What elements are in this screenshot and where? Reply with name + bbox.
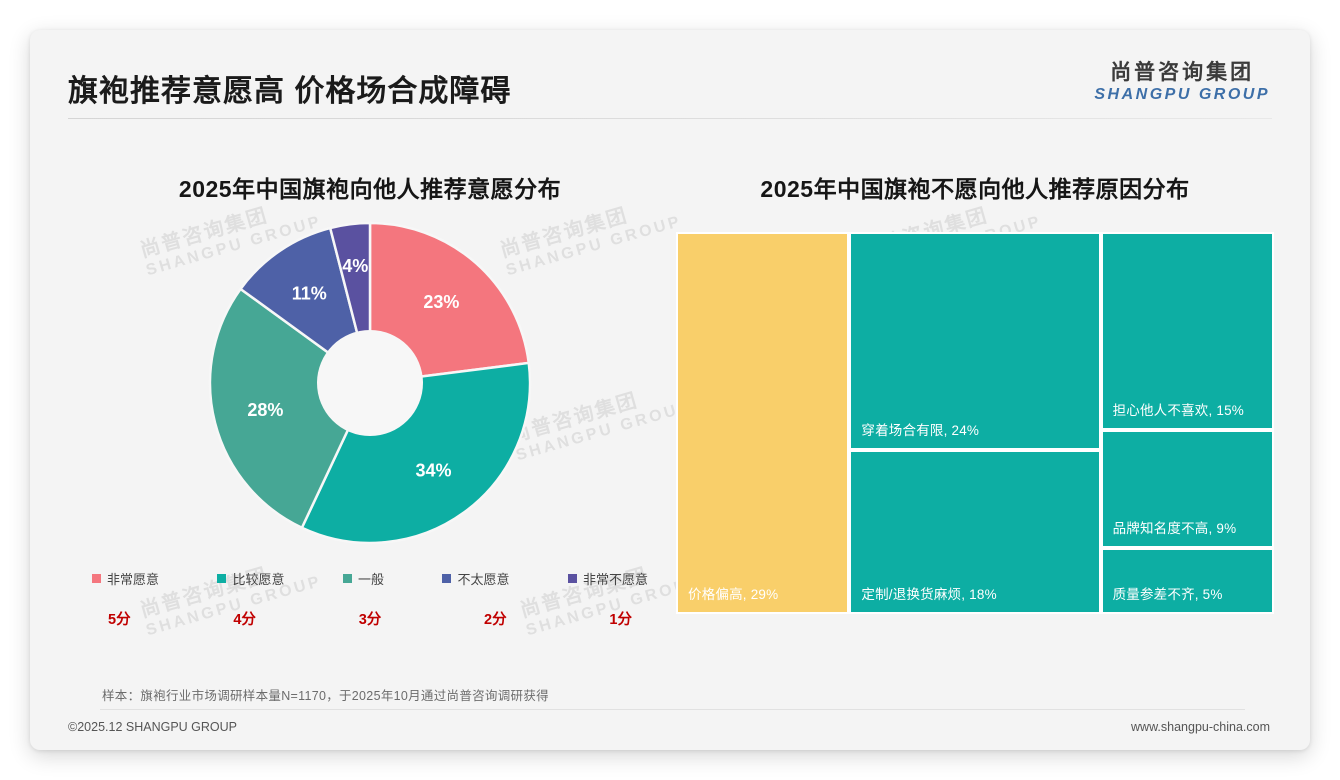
- legend-label: 不太愿意: [457, 569, 509, 588]
- footer-copyright: ©2025.12 SHANGPU GROUP: [68, 720, 237, 734]
- donut-label-5: 4%: [342, 256, 368, 276]
- donut-label-4: 11%: [292, 284, 327, 304]
- legend-item-3[interactable]: 一般: [343, 569, 384, 588]
- legend-item-1[interactable]: 非常愿意: [92, 569, 159, 588]
- chart-title-right: 2025年中国旗袍不愿向他人推荐原因分布: [675, 170, 1275, 204]
- treemap-tile-2[interactable]: 穿着场合有限, 24%: [849, 232, 1100, 450]
- slide-card: 尚普咨询集团 SHANGPU GROUP 尚普咨询集团 SHANGPU GROU…: [30, 30, 1310, 750]
- logo-text-en: SHANGPU GROUP: [1094, 85, 1270, 105]
- treemap-tile-label: 定制/退换货麻烦, 18%: [851, 583, 996, 612]
- donut-label-1: 23%: [423, 292, 459, 312]
- legend-item-4[interactable]: 不太愿意: [442, 569, 509, 588]
- treemap-tile-label: 穿着场合有限, 24%: [851, 419, 979, 448]
- treemap-tile-label: 质量参差不齐, 5%: [1103, 583, 1223, 612]
- donut-label-2: 34%: [415, 460, 451, 480]
- treemap-tile-label: 品牌知名度不高, 9%: [1103, 517, 1237, 546]
- donut-label-3: 28%: [247, 400, 283, 420]
- legend-item-2[interactable]: 比较愿意: [217, 569, 284, 588]
- donut-hole: [317, 330, 423, 436]
- legend-label: 非常愿意: [107, 569, 159, 588]
- treemap-tile-label: 价格偏高, 29%: [678, 583, 778, 612]
- treemap-tile-label: 担心他人不喜欢, 15%: [1103, 399, 1244, 428]
- legend-label: 比较愿意: [232, 569, 284, 588]
- legend-swatch-icon: [92, 574, 101, 583]
- donut-score-row: 5分4分3分2分1分: [70, 608, 670, 629]
- donut-legend: 非常愿意比较愿意一般不太愿意非常不愿意: [70, 569, 670, 588]
- panel-donut-chart: 2025年中国旗袍向他人推荐意愿分布 23%34%28%11%4% 非常愿意比较…: [70, 140, 670, 700]
- treemap-tile-6[interactable]: 质量参差不齐, 5%: [1101, 548, 1274, 614]
- legend-swatch-icon: [343, 574, 352, 583]
- legend-swatch-icon: [442, 574, 451, 583]
- chart-title-left: 2025年中国旗袍向他人推荐意愿分布: [70, 170, 670, 204]
- slide-header: 旗袍推荐意愿高 价格场合成障碍 尚普咨询集团 SHANGPU GROUP: [30, 30, 1310, 115]
- legend-label: 一般: [358, 569, 384, 588]
- legend-swatch-icon: [217, 574, 226, 583]
- treemap-tile-5[interactable]: 品牌知名度不高, 9%: [1101, 430, 1274, 549]
- panel-treemap-chart: 2025年中国旗袍不愿向他人推荐原因分布 价格偏高, 29%穿着场合有限, 24…: [675, 140, 1275, 700]
- legend-swatch-icon: [568, 574, 577, 583]
- score-label-4: 2分: [484, 608, 507, 629]
- treemap: 价格偏高, 29%穿着场合有限, 24%定制/退换货麻烦, 18%担心他人不喜欢…: [676, 232, 1274, 614]
- page-title: 旗袍推荐意愿高 价格场合成障碍: [68, 66, 511, 110]
- footer-website[interactable]: www.shangpu-china.com: [1131, 720, 1270, 734]
- score-label-3: 3分: [359, 608, 382, 629]
- donut-chart: 23%34%28%11%4%: [70, 218, 670, 563]
- slide-footer: ©2025.12 SHANGPU GROUP www.shangpu-china…: [30, 710, 1310, 750]
- score-label-5: 1分: [609, 608, 632, 629]
- score-label-2: 4分: [233, 608, 256, 629]
- treemap-tile-1[interactable]: 价格偏高, 29%: [676, 232, 849, 614]
- donut-svg: 23%34%28%11%4%: [205, 218, 535, 548]
- treemap-tile-3[interactable]: 定制/退换货麻烦, 18%: [849, 450, 1100, 614]
- title-divider: [68, 118, 1272, 119]
- sample-note: 样本：旗袍行业市场调研样本量N=1170，于2025年10月通过尚普咨询调研获得: [102, 685, 549, 704]
- treemap-tile-4[interactable]: 担心他人不喜欢, 15%: [1101, 232, 1274, 430]
- brand-logo: 尚普咨询集团 SHANGPU GROUP: [1094, 60, 1270, 105]
- logo-text-cn: 尚普咨询集团: [1094, 60, 1270, 85]
- score-label-1: 5分: [108, 608, 131, 629]
- legend-label: 非常不愿意: [583, 569, 648, 588]
- legend-item-5[interactable]: 非常不愿意: [568, 569, 648, 588]
